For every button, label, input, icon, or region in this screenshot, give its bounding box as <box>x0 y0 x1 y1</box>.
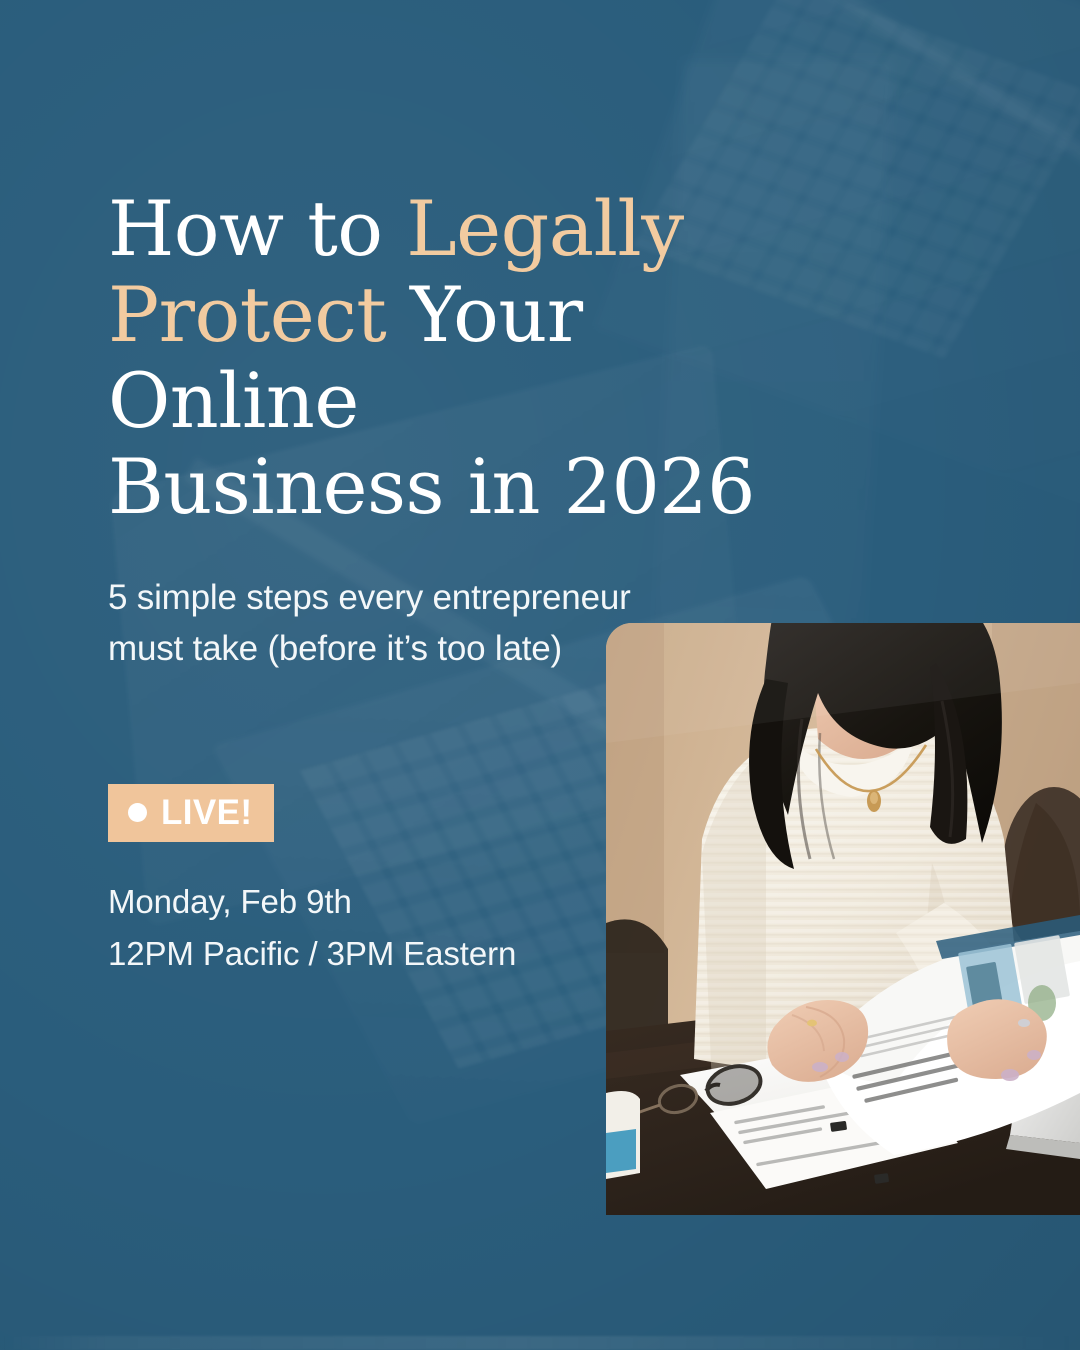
event-time: 12PM Pacific / 3PM Eastern <box>108 928 516 980</box>
headline-line-1: How to Legally <box>108 184 684 273</box>
subtitle-line-1: 5 simple steps every entrepreneur <box>108 578 631 617</box>
headline-plain-1: How to <box>108 184 406 273</box>
headline-accent-protect: Protect <box>108 270 386 359</box>
subtitle-line-2: must take (before it’s too late) <box>108 629 562 668</box>
status-badge-live: LIVE! <box>108 784 274 842</box>
event-date: Monday, Feb 9th <box>108 876 516 928</box>
headline-line-2: Protect Your Online <box>108 270 583 445</box>
headline-line-3: Business in 2026 <box>108 442 755 531</box>
live-dot-icon <box>128 803 147 822</box>
status-badge-label: LIVE! <box>161 795 252 830</box>
event-schedule: Monday, Feb 9th 12PM Pacific / 3PM Easte… <box>108 876 516 980</box>
subtitle: 5 simple steps every entrepreneur must t… <box>108 530 828 674</box>
speaker-photo <box>606 623 1080 1215</box>
text-content-block: How to Legally Protect Your Online Busin… <box>108 0 828 674</box>
page-title: How to Legally Protect Your Online Busin… <box>108 0 828 530</box>
background-bottom-strip <box>0 1336 1080 1350</box>
headline-accent-legally: Legally <box>406 184 683 273</box>
promo-poster: How to Legally Protect Your Online Busin… <box>0 0 1080 1350</box>
